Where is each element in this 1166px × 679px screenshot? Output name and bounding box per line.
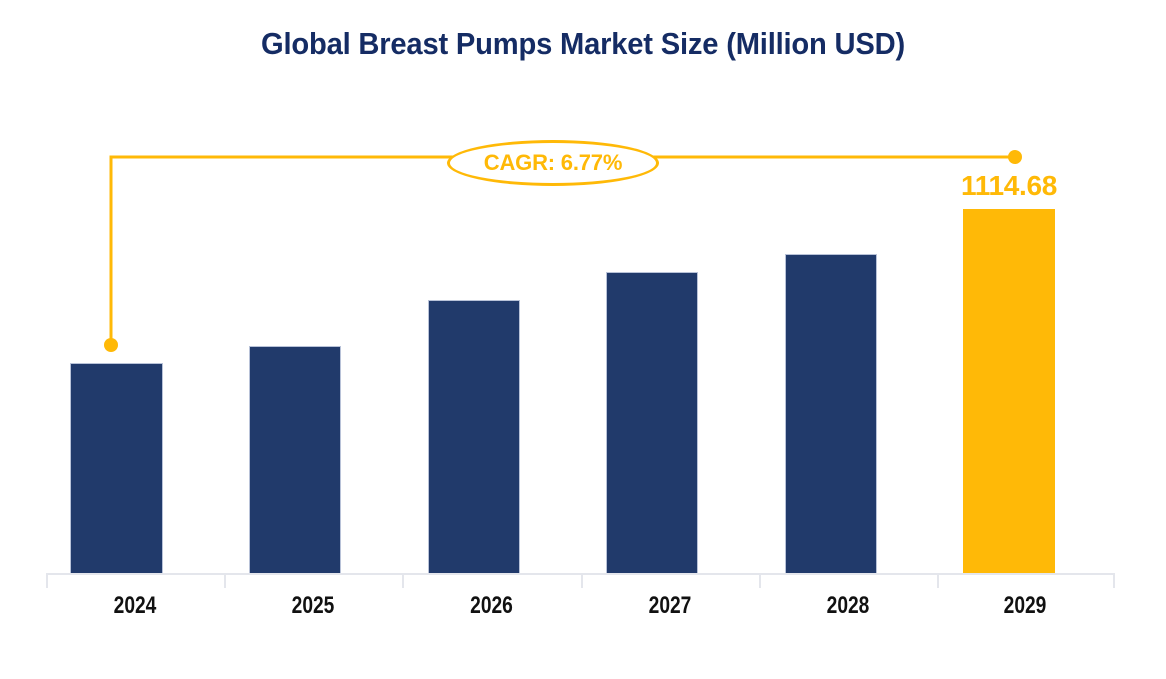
x-axis-tick-0	[46, 574, 48, 588]
x-axis-label-2029: 2029	[955, 592, 1096, 620]
x-axis-tick-5	[937, 574, 939, 588]
x-axis-label-2027: 2027	[599, 592, 741, 620]
x-axis-tick-3	[581, 574, 583, 588]
bar-2029[interactable]	[963, 209, 1055, 574]
x-axis-tick-1	[224, 574, 226, 588]
value-label-2029: 1114.68	[954, 170, 1064, 202]
x-axis-label-2028: 2028	[777, 592, 919, 620]
x-axis-tick-6	[1113, 574, 1115, 588]
bar-2028[interactable]	[785, 254, 877, 574]
x-axis-tick-2	[402, 574, 404, 588]
x-axis-tick-4	[759, 574, 761, 588]
x-axis-label-2024: 2024	[64, 592, 206, 620]
cagr-label: CAGR: 6.77%	[447, 140, 659, 186]
plot-area: CAGR: 6.77% 1114.68 2024 2025 2026 2027 …	[0, 0, 1166, 679]
bar-2026[interactable]	[428, 300, 520, 574]
cagr-badge: CAGR: 6.77%	[447, 140, 659, 186]
chart-container: Global Breast Pumps Market Size (Million…	[0, 0, 1166, 679]
x-axis-label-2026: 2026	[420, 592, 563, 620]
bar-2027[interactable]	[606, 272, 698, 574]
bar-2024[interactable]	[70, 363, 163, 574]
bar-2025[interactable]	[249, 346, 341, 574]
x-axis-label-2025: 2025	[242, 592, 384, 620]
